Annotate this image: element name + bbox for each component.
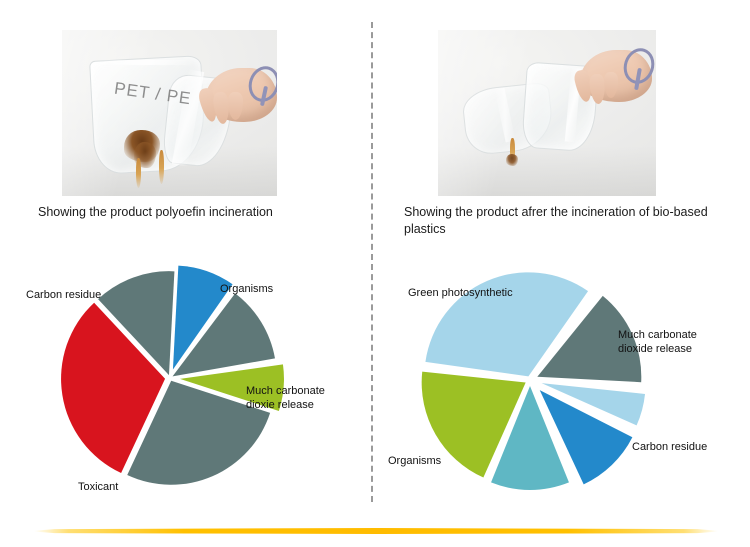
melt-drip-left-2 xyxy=(159,150,164,184)
slice-label-organisms-left: Organisms xyxy=(220,282,273,296)
pie-chart-polyolefin: Carbon residue Organisms Much carbonate … xyxy=(40,258,370,508)
bag-zip-left xyxy=(98,60,194,65)
slice-label-carbonate-left: Much carbonate dioxie release xyxy=(246,384,338,412)
slice-label-toxicant-left: Toxicant xyxy=(78,480,118,494)
bottom-decorative-rule xyxy=(34,528,718,534)
slice-label-green-photosynthetic-right: Green photosynthetic xyxy=(408,286,513,300)
photo-biobased-incineration xyxy=(438,30,656,196)
slice-label-carbonate-right: Much carbonate dioxide release xyxy=(618,328,718,356)
pie-slices-right xyxy=(422,272,645,490)
pie-chart-biobased: Green photosynthetic Much carbonate diox… xyxy=(390,262,745,510)
melt-drip-left-1 xyxy=(136,158,141,188)
slice-label-organisms-right: Organisms xyxy=(388,454,441,468)
caption-right: Showing the product afrer the incinerati… xyxy=(404,204,734,238)
slice-label-carbon-residue-left: Carbon residue xyxy=(26,288,101,302)
caption-left: Showing the product polyoefin incinerati… xyxy=(38,204,358,221)
photo-polyolefin-incineration: PET / PE xyxy=(62,30,277,196)
slice-label-carbon-residue-right: Carbon residue xyxy=(632,440,707,454)
vertical-dashed-divider xyxy=(371,22,373,502)
burn-mark-right xyxy=(506,154,518,166)
